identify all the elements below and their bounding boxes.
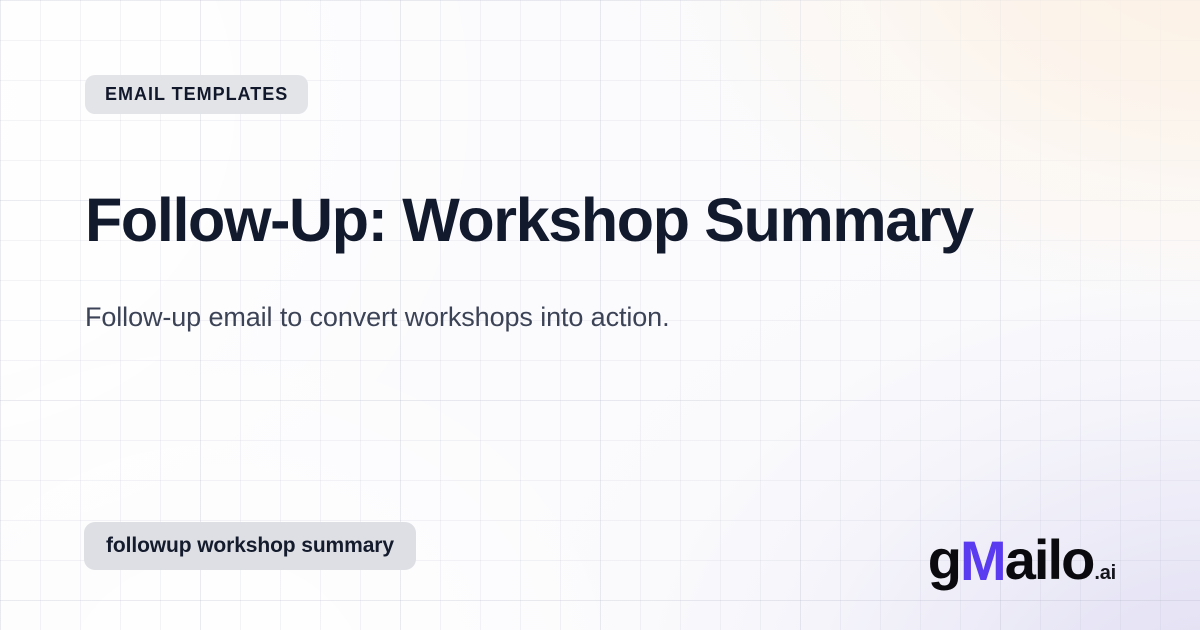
card-content: EMAIL TEMPLATES Follow-Up: Workshop Summ… xyxy=(0,0,1200,630)
category-badge: EMAIL TEMPLATES xyxy=(85,75,308,114)
page-title: Follow-Up: Workshop Summary xyxy=(85,188,1125,253)
page-subtitle: Follow-up email to convert workshops int… xyxy=(85,299,1085,335)
logo-letters-ailo: ailo xyxy=(1005,532,1094,588)
logo-suffix-ai: .ai xyxy=(1094,563,1116,583)
logo-letter-g: g xyxy=(928,532,960,588)
og-card: EMAIL TEMPLATES Follow-Up: Workshop Summ… xyxy=(0,0,1200,630)
brand-logo: g M ailo .ai xyxy=(928,532,1116,588)
keyword-tag: followup workshop summary xyxy=(84,522,416,570)
logo-letter-m: M xyxy=(960,533,1005,589)
